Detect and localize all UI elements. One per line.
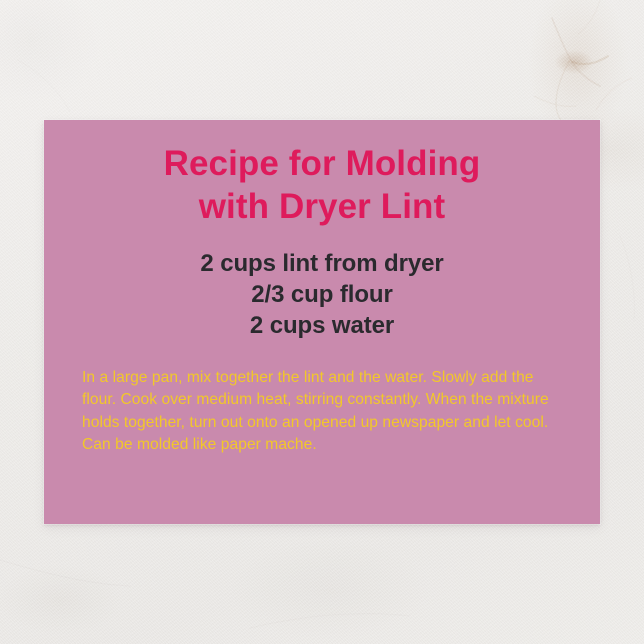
recipe-title-line-1: Recipe for Molding — [44, 142, 600, 185]
recipe-title-line-2: with Dryer Lint — [44, 185, 600, 228]
ingredient-item-1: 2 cups lint from dryer — [44, 248, 600, 279]
ingredient-item-2: 2/3 cup flour — [44, 279, 600, 310]
ingredient-item-3: 2 cups water — [44, 310, 600, 341]
ingredient-list: 2 cups lint from dryer 2/3 cup flour 2 c… — [44, 248, 600, 341]
instructions-paragraph: In a large pan, mix together the lint an… — [82, 367, 552, 456]
recipe-postcard: Recipe for Molding with Dryer Lint 2 cup… — [44, 120, 600, 524]
screenshot-canvas: Recipe for Molding with Dryer Lint 2 cup… — [0, 0, 644, 644]
recipe-title: Recipe for Molding with Dryer Lint — [44, 142, 600, 228]
